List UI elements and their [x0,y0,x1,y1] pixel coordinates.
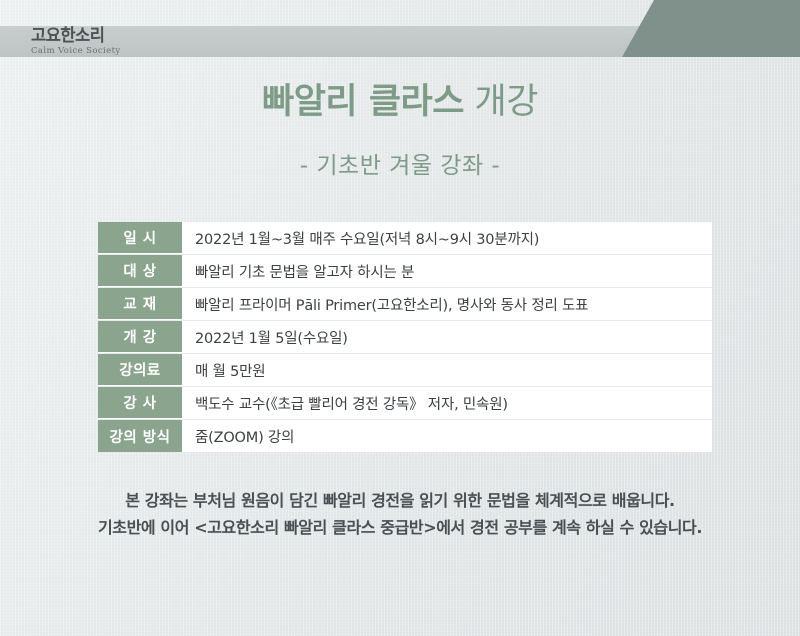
brand-logo: 고요한소리 Calm Voice Society [31,26,121,57]
row-label: 강 사 [98,387,182,419]
row-label: 개 강 [98,321,182,353]
row-label: 일 시 [98,222,182,254]
brand-logo-english: Calm Voice Society [31,47,121,56]
row-value: 2022년 1월~3월 매주 수요일(저녁 8시~9시 30분까지) [182,222,712,254]
row-value: 줌(ZOOM) 강의 [182,420,712,452]
row-value: 빠알리 프라이머 Pāli Primer(고요한소리), 명사와 동사 정리 도… [182,288,712,320]
footer-note-line-2: 기초반에 이어 <고요한소리 빠알리 클라스 중급반>에서 경전 공부를 계속 … [0,514,800,541]
table-row: 교 재 빠알리 프라이머 Pāli Primer(고요한소리), 명사와 동사 … [98,288,712,321]
row-value: 빠알리 기초 문법을 알고자 하시는 분 [182,255,712,287]
table-row: 강 사 백도수 교수(《초급 빨리어 경전 강독》 저자, 민속원) [98,387,712,420]
page-title-main: 빠알리 클라스 [262,82,464,122]
row-label: 교 재 [98,288,182,320]
course-info-table: 일 시 2022년 1월~3월 매주 수요일(저녁 8시~9시 30분까지) 대… [98,222,712,452]
row-value: 2022년 1월 5일(수요일) [182,321,712,353]
table-row: 강의료 매 월 5만원 [98,354,712,387]
table-row: 강의 방식 줌(ZOOM) 강의 [98,420,712,452]
footer-note-line-1: 본 강좌는 부처님 원음이 담긴 빠알리 경전을 읽기 위한 문법을 체계적으로… [0,487,800,514]
brand-logo-korean: 고요한소리 [31,28,104,45]
table-row: 일 시 2022년 1월~3월 매주 수요일(저녁 8시~9시 30분까지) [98,222,712,255]
row-label: 강의 방식 [98,420,182,452]
table-row: 대 상 빠알리 기초 문법을 알고자 하시는 분 [98,255,712,288]
page-subtitle: - 기초반 겨울 강좌 - [0,150,800,182]
page-title-suffix: 개강 [464,82,538,122]
footer-note: 본 강좌는 부처님 원음이 담긴 빠알리 경전을 읽기 위한 문법을 체계적으로… [0,487,800,541]
table-row: 개 강 2022년 1월 5일(수요일) [98,321,712,354]
row-value: 백도수 교수(《초급 빨리어 경전 강독》 저자, 민속원) [182,387,712,419]
row-label: 대 상 [98,255,182,287]
row-value: 매 월 5만원 [182,354,712,386]
row-label: 강의료 [98,354,182,386]
page-title: 빠알리 클라스 개강 [0,80,800,124]
